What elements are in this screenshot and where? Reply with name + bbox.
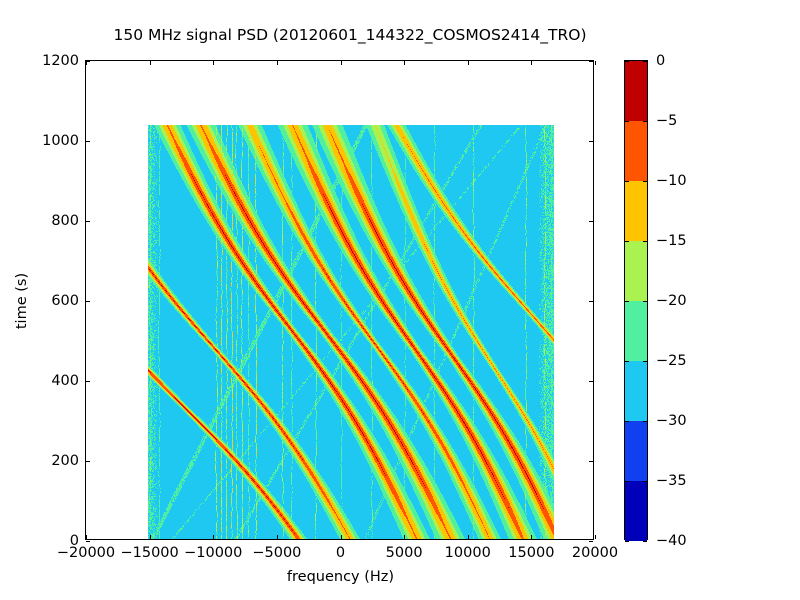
x-tick [531,535,532,539]
y-tick [589,61,593,62]
colorbar-band [625,481,647,541]
y-tick-label: 400 [51,373,79,389]
colorbar-tick-label: −35 [656,473,687,489]
x-tick-label: 15000 [508,545,554,561]
colorbar-band [625,121,647,181]
x-tick-label: 20000 [572,545,618,561]
colorbar-tick [625,121,629,122]
colorbar-tick-label: −15 [656,233,687,249]
colorbar-tick [625,61,629,62]
colorbar-tick [643,541,647,542]
x-tick [150,535,151,539]
colorbar-tick [643,181,647,182]
colorbar-tick [643,61,647,62]
colorbar-tick [625,541,629,542]
colorbar-tick [643,301,647,302]
colorbar-band [625,301,647,361]
x-tick [86,535,87,539]
x-tick [277,61,278,65]
colorbar-tick-label: −5 [656,113,677,129]
figure: 150 MHz signal PSD (20120601_144322_COSM… [0,0,800,600]
x-tick-label: −20000 [57,545,115,561]
colorbar-tick [625,181,629,182]
colorbar-tick [643,481,647,482]
spectrogram-image [148,125,554,539]
y-tick [589,141,593,142]
x-axis-title: frequency (Hz) [86,569,595,585]
x-tick [468,535,469,539]
x-tick [277,535,278,539]
x-tick [404,535,405,539]
colorbar-tick [625,361,629,362]
colorbar: 0−5−10−15−20−25−30−35−40 [624,60,648,540]
y-tick [86,221,90,222]
plot-axes: frequency (Hz) time (s) −20000−15000−100… [85,60,594,540]
colorbar-band [625,61,647,121]
colorbar-tick [625,241,629,242]
colorbar-tick-label: −25 [656,353,687,369]
y-axis-title: time (s) [14,273,30,329]
x-tick-label: −10000 [184,545,242,561]
y-tick [589,221,593,222]
plot-area [86,61,593,539]
colorbar-tick-label: −40 [656,533,687,549]
y-tick [86,301,90,302]
x-tick-label: −5000 [252,545,301,561]
y-tick [86,61,90,62]
y-tick-label: 1000 [42,133,79,149]
colorbar-tick [643,121,647,122]
x-tick-label: −15000 [120,545,178,561]
x-tick [213,61,214,65]
y-tick [589,381,593,382]
x-tick [213,535,214,539]
x-tick [150,61,151,65]
y-tick-label: 800 [51,213,79,229]
colorbar-tick [625,481,629,482]
y-tick [86,541,90,542]
y-tick [589,301,593,302]
colorbar-tick [643,421,647,422]
colorbar-tick [643,361,647,362]
y-tick [86,381,90,382]
x-tick [531,61,532,65]
y-tick-label: 1200 [42,53,79,69]
y-tick-label: 0 [70,533,79,549]
x-tick [468,61,469,65]
x-tick [341,535,342,539]
colorbar-band [625,241,647,301]
colorbar-tick [625,421,629,422]
colorbar-tick [625,301,629,302]
x-tick [341,61,342,65]
colorbar-tick-label: 0 [656,53,665,69]
colorbar-tick [643,241,647,242]
spectrogram-canvas [148,125,554,539]
chart-title: 150 MHz signal PSD (20120601_144322_COSM… [0,26,700,44]
y-tick-label: 600 [51,293,79,309]
x-tick-label: 0 [336,545,345,561]
y-tick [589,461,593,462]
colorbar-tick-label: −30 [656,413,687,429]
colorbar-band [625,181,647,241]
x-tick-label: 10000 [445,545,491,561]
x-tick [595,61,596,65]
colorbar-band [625,361,647,421]
x-tick-label: 5000 [386,545,423,561]
x-tick [404,61,405,65]
y-tick [86,461,90,462]
y-tick [86,141,90,142]
colorbar-tick-label: −10 [656,173,687,189]
colorbar-band [625,421,647,481]
y-tick-label: 200 [51,453,79,469]
colorbar-tick-label: −20 [656,293,687,309]
y-tick [589,541,593,542]
x-tick [595,535,596,539]
